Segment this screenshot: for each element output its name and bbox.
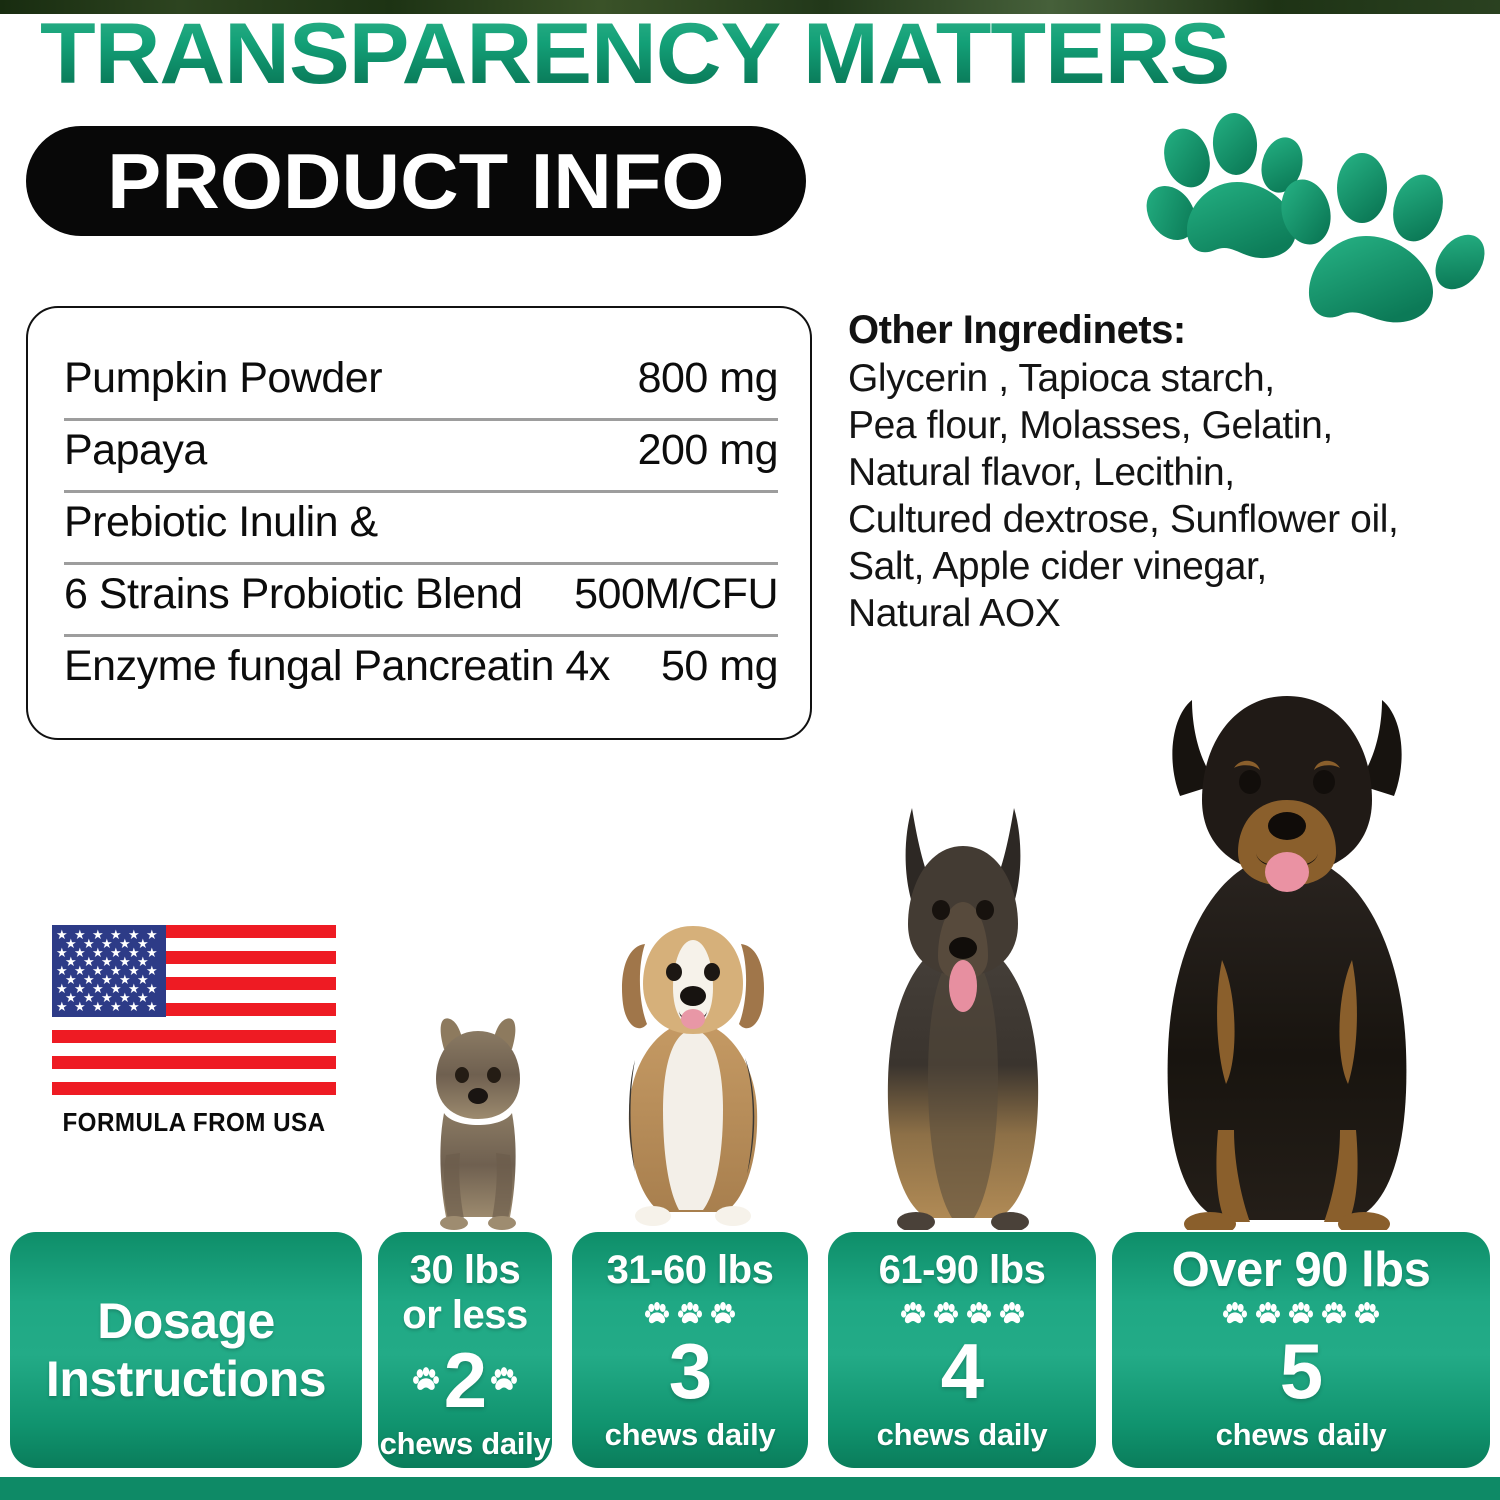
paw-icon: [1321, 1301, 1347, 1327]
paw-icon: [900, 1301, 926, 1327]
dosage-card-61-90-lbs: 61-90 lbs 4 chews daily: [828, 1232, 1096, 1468]
dosage-count: 2: [444, 1340, 486, 1420]
dosage-chews-label: chews daily: [828, 1411, 1096, 1453]
dosage-chews-label: chews daily: [378, 1420, 552, 1462]
product-info-badge-label: PRODUCT INFO: [107, 142, 724, 220]
paw-icon: [999, 1301, 1025, 1327]
dosage-chews-label: chews daily: [572, 1411, 808, 1453]
ingredient-name: 6 Strains Probiotic Blend: [64, 570, 522, 619]
dosage-chews-label: chews daily: [1112, 1411, 1490, 1453]
other-ingredients-block: Other Ingredinets: Glycerin , Tapioca st…: [848, 308, 1448, 637]
other-ingredients-line: Cultured dextrose, Sunflower oil,: [848, 496, 1448, 543]
usa-flag-icon: ★★★★★★ ★★★★★ ★★★★★★ ★★★★★ ★★★★★★ ★★★★★ ★…: [52, 925, 336, 1095]
other-ingredients-line: Natural flavor, Lecithin,: [848, 449, 1448, 496]
dog-illustration-yorkshire-terrier: [398, 995, 558, 1230]
dosage-card-30-lbs-or-less: 30 lbs or less 2 chews daily: [378, 1232, 552, 1468]
page-title: TRANSPARENCY MATTERS: [40, 8, 1376, 100]
dosage-card-over-90-lbs: Over 90 lbs 5 chews daily: [1112, 1232, 1490, 1468]
ingredient-name: Pumpkin Powder: [64, 354, 382, 403]
table-row: Prebiotic Inulin &: [64, 498, 778, 565]
other-ingredients-line: Glycerin , Tapioca starch,: [848, 355, 1448, 402]
dosage-heading-card: Dosage Instructions: [10, 1232, 362, 1468]
dosage-instructions-row: Dosage Instructions 30 lbs or less 2 che…: [0, 1232, 1500, 1468]
bottom-accent-bar: [0, 1477, 1500, 1500]
paw-icon: [1354, 1301, 1380, 1327]
dosage-card-31-60-lbs: 31-60 lbs 3 chews daily: [572, 1232, 808, 1468]
dosage-heading-line1: Dosage: [97, 1292, 275, 1350]
table-row: Papaya 200 mg: [64, 426, 778, 493]
paw-icon: [644, 1301, 670, 1327]
dosage-paw-row: [828, 1297, 1096, 1331]
dosage-weight-line1: 61-90 lbs: [828, 1232, 1096, 1293]
dosage-weight-line1: 31-60 lbs: [572, 1232, 808, 1293]
paw-icon: [1255, 1301, 1281, 1327]
ingredient-amount: 500M/CFU: [574, 570, 778, 619]
dosage-weight-line1: 30 lbs: [378, 1232, 552, 1293]
ingredient-name: Papaya: [64, 426, 207, 475]
paw-icon: [933, 1301, 959, 1327]
dosage-count: 4: [828, 1331, 1096, 1411]
table-row: Pumpkin Powder 800 mg: [64, 354, 778, 421]
paw-print-decoration: [1145, 110, 1495, 340]
dog-illustration-beagle: [575, 910, 810, 1230]
dosage-paw-row: [572, 1297, 808, 1331]
paw-icon: [677, 1301, 703, 1327]
product-info-graphic: TRANSPARENCY MATTERS PRODUCT INFO: [0, 0, 1500, 1500]
ingredient-name: Prebiotic Inulin &: [64, 498, 778, 547]
dosage-weight-line1: Over 90 lbs: [1112, 1232, 1490, 1293]
origin-badge-caption: FORMULA FROM USA: [62, 1107, 326, 1138]
dosage-heading-line2: Instructions: [46, 1350, 326, 1408]
paw-icon: [1288, 1301, 1314, 1327]
paw-icon: [1222, 1301, 1248, 1327]
other-ingredients-line: Salt, Apple cider vinegar,: [848, 543, 1448, 590]
other-ingredients-title: Other Ingredinets:: [848, 308, 1448, 353]
dosage-paw-row: [1112, 1297, 1490, 1331]
ingredient-amount: 800 mg: [638, 354, 778, 403]
flag-canton: ★★★★★★ ★★★★★ ★★★★★★ ★★★★★ ★★★★★★ ★★★★★ ★…: [52, 925, 166, 1017]
product-info-badge: PRODUCT INFO: [26, 126, 806, 236]
ingredient-amount: 200 mg: [638, 426, 778, 475]
origin-badge: ★★★★★★ ★★★★★ ★★★★★★ ★★★★★ ★★★★★★ ★★★★★ ★…: [52, 925, 342, 1138]
dog-illustration-rottweiler: [1122, 660, 1452, 1230]
paw-icon: [710, 1301, 736, 1327]
paw-icon: [490, 1366, 518, 1394]
paw-icon: [966, 1301, 992, 1327]
dog-illustration-german-shepherd: [838, 790, 1088, 1230]
paw-icon: [412, 1366, 440, 1394]
dosage-count: 5: [1112, 1331, 1490, 1411]
dosage-count: 3: [572, 1331, 808, 1411]
dosage-weight-line2: or less: [378, 1293, 552, 1338]
dosage-count-group: 2: [378, 1340, 552, 1420]
other-ingredients-line: Pea flour, Molasses, Gelatin,: [848, 402, 1448, 449]
